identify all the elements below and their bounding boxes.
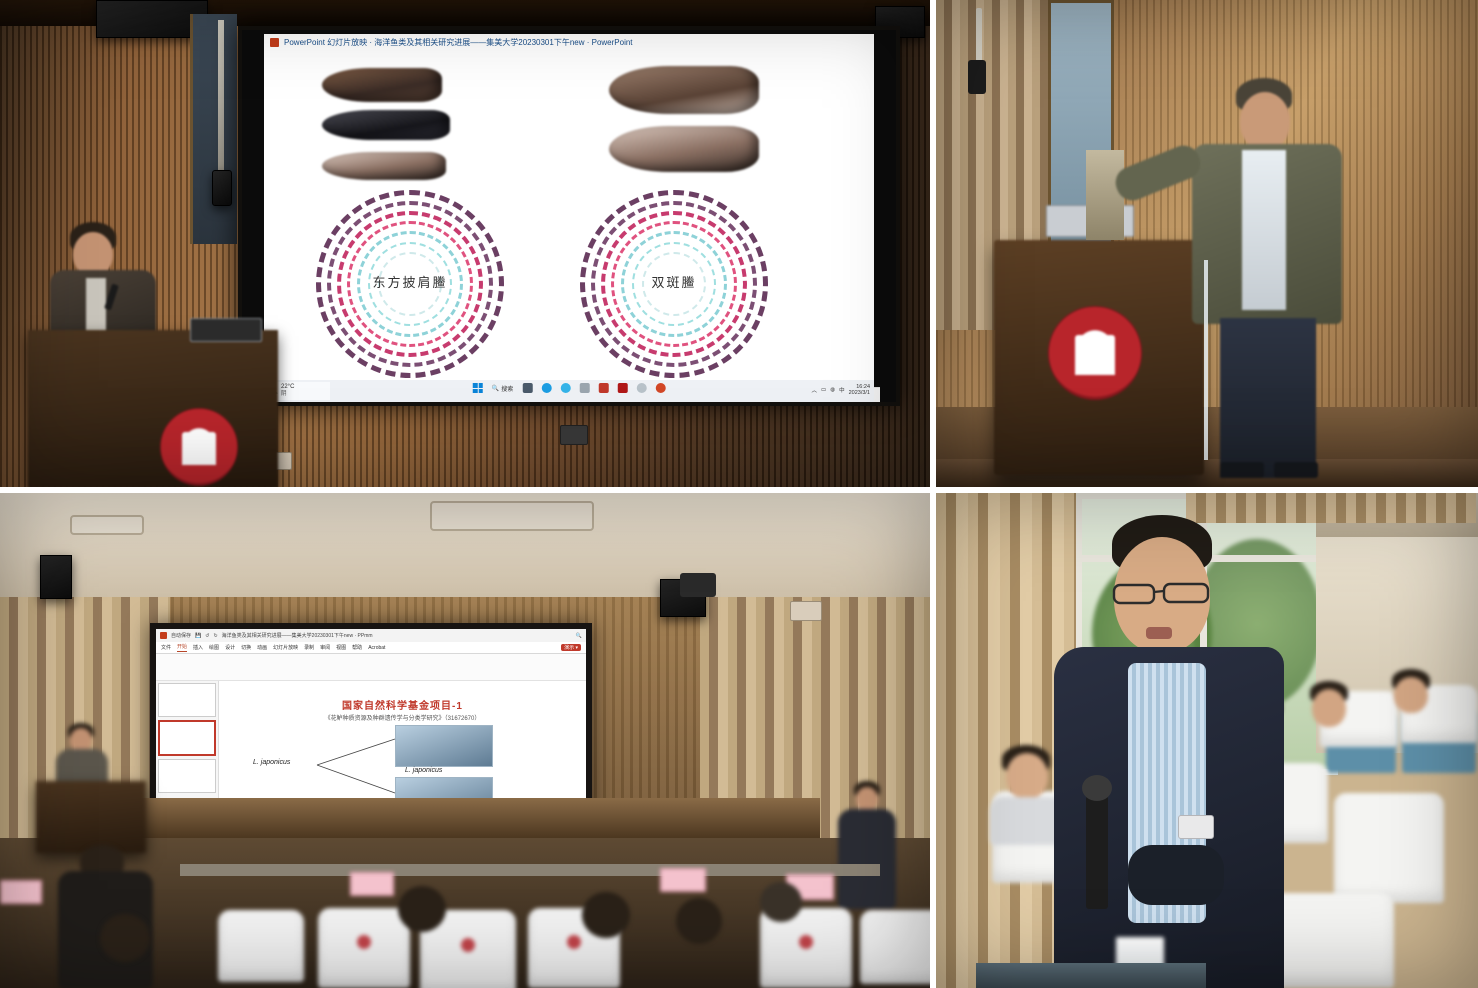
desk-edge-d [976, 963, 1206, 988]
ribbon-tabs[interactable]: 文件 开始 插入 绘图 设计 切换 动画 幻灯片放映 录制 审阅 视图 帮助 A… [156, 642, 586, 654]
mail-icon[interactable] [579, 383, 589, 393]
wall-blue-panel [190, 14, 237, 244]
hanging-light-rod [218, 20, 224, 170]
task-view-icon[interactable] [522, 383, 532, 393]
panel-lecture-hall-projection: PowerPoint 幻灯片放映 · 海洋鱼类及其相关研究进展——集美大学202… [0, 0, 930, 487]
wall-panel-c [790, 601, 822, 621]
podium [28, 330, 278, 487]
system-tray[interactable]: ︿ ▭ ◍ 中 16:24 2023/3/1 [812, 384, 870, 396]
audience-head-5 [758, 882, 804, 926]
podium-banner [1086, 150, 1124, 240]
powerpoint-window: PowerPoint 幻灯片放映 · 海洋鱼类及其相关研究进展——集美大学202… [264, 34, 874, 402]
speaker-d-figure [1054, 515, 1284, 988]
search-icon-c[interactable]: 🔍 [576, 633, 582, 639]
podium-laptop [190, 318, 262, 342]
tab-slideshow[interactable]: 幻灯片放映 [273, 644, 298, 651]
audience-head-2 [578, 892, 634, 948]
audience-d-1-head [1006, 753, 1048, 799]
audience-hair-3 [676, 898, 722, 944]
speaker-b-trousers [1220, 318, 1316, 478]
projection-screen: PowerPoint 幻灯片放映 · 海洋鱼类及其相关研究进展——集美大学202… [238, 26, 900, 406]
audience-d-4-head [1394, 677, 1428, 713]
tab-animations[interactable]: 动画 [257, 644, 267, 651]
ac-vent-center [430, 501, 594, 531]
species-label-left: 东方披肩䲢 [316, 272, 504, 291]
panel-stage-speaker [936, 0, 1478, 487]
quick-access-toolbar[interactable]: 自动保存 💾 ↺ ↻ 海洋鱼类及其相关研究进展——集美大学20230301下午n… [156, 629, 586, 642]
circular-diagram-left: 东方披肩䲢 [316, 190, 504, 378]
audience-d-3 [1302, 681, 1356, 749]
fish-specimen-row [264, 64, 874, 194]
collage-gap-horizontal [0, 487, 1478, 493]
wall-speaker-c-left [40, 555, 72, 599]
tab-transitions[interactable]: 切换 [241, 644, 251, 651]
windows-start-icon[interactable] [473, 383, 483, 393]
tab-draw[interactable]: 绘图 [209, 644, 219, 651]
audience-d-4 [1384, 669, 1438, 735]
chair-cover-5 [860, 910, 930, 984]
speaker-b-shoe-right [1274, 462, 1318, 478]
powerpoint-title-text: PowerPoint 幻灯片放映 · 海洋鱼类及其相关研究进展——集美大学202… [284, 37, 633, 48]
speaker-b-head [1240, 92, 1290, 150]
chair-cover-6 [218, 910, 304, 982]
species-label-c-top: L. japonicus [405, 767, 442, 774]
mic-head-icon [1082, 775, 1112, 801]
powerpoint-taskbar-icon[interactable] [655, 383, 665, 393]
panel-second-speaker [936, 493, 1478, 988]
audience-d-1-torso [990, 797, 1064, 845]
standing-person-head [856, 787, 878, 811]
university-emblem-b [1048, 306, 1142, 400]
clock-date[interactable]: 2023/3/1 [849, 390, 870, 396]
search-taskbar-button[interactable]: 🔍 搜索 [492, 384, 514, 393]
save-icon[interactable]: 💾 [195, 633, 201, 639]
glasses-icon [1112, 581, 1216, 607]
stage-c [120, 798, 820, 838]
ribbon-command-area[interactable] [156, 654, 586, 681]
ac-vent-left [70, 515, 144, 535]
chair-crest-2 [461, 938, 475, 952]
ime-indicator[interactable]: 中 [839, 386, 845, 394]
species-label-right: 双斑䲢 [580, 272, 768, 291]
audience-hair-4 [100, 914, 150, 962]
powerpoint-icon-c [160, 632, 167, 639]
wall-device [560, 425, 588, 445]
hanging-microphone [968, 60, 986, 94]
speaker-b-figure [1186, 78, 1346, 478]
edge-icon[interactable] [541, 383, 551, 393]
tab-view[interactable]: 视图 [336, 644, 346, 651]
chevron-up-icon[interactable]: ︿ [812, 386, 818, 394]
mic-cable [1204, 260, 1208, 460]
presenter-shirt [86, 278, 106, 338]
tab-review[interactable]: 审阅 [320, 644, 330, 651]
audience-head-4 [96, 914, 154, 974]
fish-photo-top [395, 725, 493, 767]
weather-condition: 阴 [281, 391, 294, 398]
tab-acrobat[interactable]: Acrobat [368, 645, 385, 651]
circular-diagram-right: 双斑䲢 [580, 190, 768, 378]
weather-temperature: 22°C [281, 384, 294, 391]
slide-title-c: 国家自然科学基金项目-1 [219, 697, 586, 712]
browser-icon[interactable] [560, 383, 570, 393]
projector [680, 573, 716, 597]
volume-icon[interactable]: ◍ [830, 387, 835, 393]
present-button[interactable]: 演示 ▾ [561, 644, 581, 651]
fish-specimen-1 [322, 68, 442, 102]
audience-hair-2 [582, 892, 630, 938]
audience-head-1 [392, 886, 450, 942]
handheld-microphone [1086, 789, 1108, 909]
powerpoint-icon [270, 38, 279, 47]
undo-icon[interactable]: ↺ [205, 633, 209, 639]
slide-canvas: 东方披肩䲢 双斑䲢 [264, 50, 874, 380]
tab-help[interactable]: 帮助 [352, 644, 362, 651]
tab-insert[interactable]: 插入 [193, 644, 203, 651]
panel-wide-auditorium: 自动保存 💾 ↺ ↻ 海洋鱼类及其相关研究进展——集美大学20230301下午n… [0, 493, 930, 988]
seat-cover-d-6 [1266, 893, 1394, 988]
collage-gap-vertical [930, 0, 936, 988]
slide-thumb-1[interactable] [158, 683, 216, 717]
store-icon[interactable] [598, 383, 608, 393]
fish-specimen-4 [609, 66, 759, 114]
audience-hair-1 [398, 886, 446, 932]
speaker-d-mouth [1146, 627, 1172, 639]
standing-person-torso [838, 809, 896, 909]
speaker-b-shirt [1242, 150, 1286, 310]
podium-b [994, 240, 1204, 475]
tab-file[interactable]: 文件 [161, 644, 171, 651]
pdf-icon[interactable] [617, 383, 627, 393]
slide-subtitle-c: 《花鲈种质资源及种群遗传学与分类学研究》（31672670） [219, 713, 586, 722]
podium-c [36, 781, 146, 853]
slide-thumb-3[interactable] [158, 759, 216, 793]
powerpoint-titlebar: PowerPoint 幻灯片放映 · 海洋鱼类及其相关研究进展——集美大学202… [264, 34, 874, 51]
speaker-d-hand [1128, 845, 1224, 905]
hanging-mic-rod [976, 8, 982, 64]
taskbar-icon-group[interactable]: 🔍 搜索 [473, 383, 666, 393]
tab-record[interactable]: 录制 [304, 644, 314, 651]
species-label-c-left: L. japonicus [253, 759, 290, 766]
name-placard-1 [350, 872, 394, 896]
audience-desk-row-1 [180, 864, 880, 876]
speaker-b-shoe-left [1220, 462, 1264, 478]
tab-home[interactable]: 开始 [177, 643, 187, 652]
audience-d-3-head [1312, 689, 1346, 727]
name-badge [1178, 815, 1214, 839]
autosave-label[interactable]: 自动保存 [171, 632, 191, 639]
fish-specimen-3 [322, 152, 446, 180]
tab-design[interactable]: 设计 [225, 644, 235, 651]
settings-icon[interactable] [636, 383, 646, 393]
search-icon: 🔍 [492, 385, 499, 392]
audience-hair-5 [760, 882, 802, 922]
name-placard-4 [0, 880, 42, 904]
network-icon[interactable]: ▭ [821, 387, 826, 393]
windows-taskbar[interactable]: ☁ 22°C 阴 🔍 搜索 [264, 380, 874, 402]
hanging-speaker [212, 170, 232, 206]
seat-cover-d-4 [1334, 793, 1444, 903]
audience-head-3 [672, 898, 726, 954]
document-title-c: 海洋鱼类及其相关研究进展——集美大学20230301下午new · PPmm [222, 632, 373, 639]
search-label: 搜索 [501, 384, 513, 393]
standing-person-right [832, 781, 902, 911]
university-emblem [160, 408, 238, 486]
slide-thumb-2-selected[interactable] [158, 720, 216, 756]
fish-specimen-5 [609, 126, 759, 172]
name-placard-2 [660, 868, 706, 892]
chair-crest-1 [357, 935, 371, 949]
fish-specimen-2 [322, 110, 450, 140]
redo-icon[interactable]: ↻ [213, 633, 217, 639]
photo-collage: PowerPoint 幻灯片放映 · 海洋鱼类及其相关研究进展——集美大学202… [0, 0, 1478, 988]
chair-crest-4 [799, 935, 813, 949]
